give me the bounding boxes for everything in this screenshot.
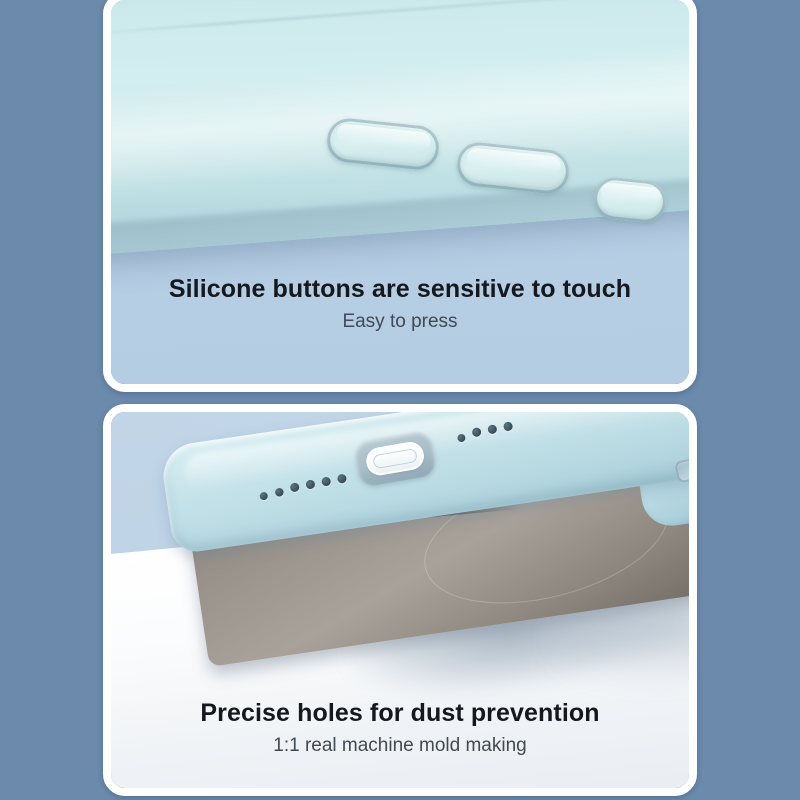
caption-subline: Easy to press: [111, 311, 689, 333]
case-sheen: [111, 40, 689, 197]
caption-subline: 1:1 real machine mold making: [111, 735, 689, 757]
feature-panel-silicone-buttons: Silicone buttons are sensitive to touch …: [103, 0, 697, 392]
speaker-hole: [503, 421, 513, 431]
panel-inner: Silicone buttons are sensitive to touch …: [111, 0, 689, 384]
caption-headline: Precise holes for dust prevention: [111, 699, 689, 728]
caption-headline: Silicone buttons are sensitive to touch: [111, 275, 689, 304]
panel-inner: Precise holes for dust prevention 1:1 re…: [111, 412, 689, 788]
speaker-hole: [487, 424, 497, 434]
caption-precise-holes: Precise holes for dust prevention 1:1 re…: [111, 699, 689, 757]
case-edge-highlight: [111, 0, 689, 38]
caption-silicone-buttons: Silicone buttons are sensitive to touch …: [111, 275, 689, 333]
speaker-hole: [321, 476, 331, 486]
feature-panel-precise-holes: Precise holes for dust prevention 1:1 re…: [103, 404, 697, 796]
charging-port-opening: [364, 440, 426, 478]
product-feature-collage: Silicone buttons are sensitive to touch …: [0, 0, 800, 800]
speaker-hole: [337, 473, 347, 483]
speaker-hole: [289, 482, 299, 492]
speaker-hole: [305, 479, 315, 489]
speaker-hole: [471, 427, 481, 437]
